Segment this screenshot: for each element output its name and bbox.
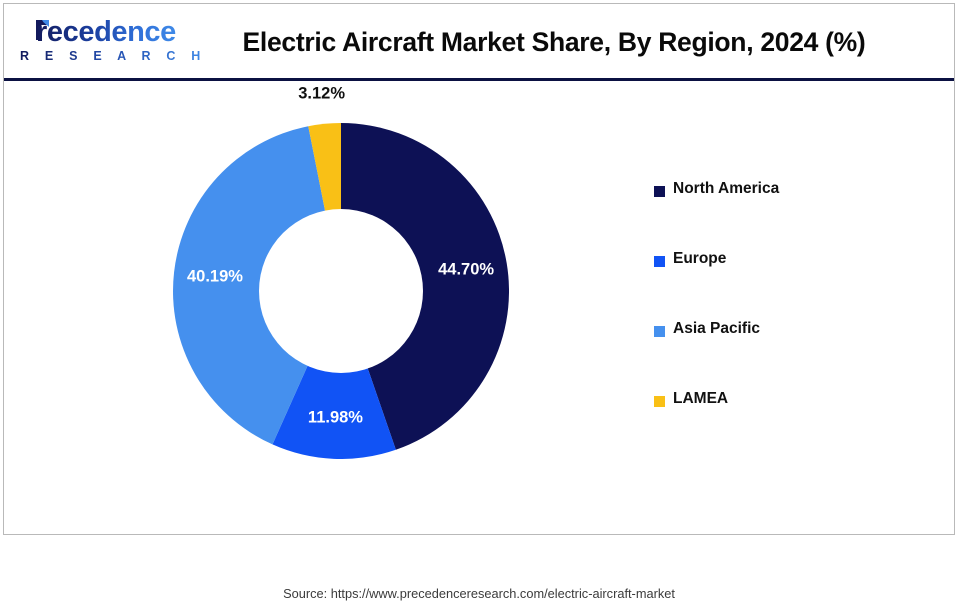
source-note: Source: https://www.precedenceresearch.c… <box>4 586 954 601</box>
donut-hole <box>259 209 423 373</box>
slice-label: 3.12% <box>298 84 345 103</box>
legend-label-europe: Europe <box>673 250 726 268</box>
logo-wordmark: recedence <box>36 16 176 49</box>
legend-item-lamea[interactable]: LAMEA <box>654 391 914 461</box>
legend-swatch-asia-pacific <box>654 326 665 337</box>
legend-label-north-america: North America <box>673 180 779 198</box>
legend-swatch-lamea <box>654 396 665 407</box>
legend-item-europe[interactable]: Europe <box>654 251 914 321</box>
legend-item-asia-pacific[interactable]: Asia Pacific <box>654 321 914 391</box>
donut-chart-svg <box>173 123 509 459</box>
legend-swatch-north-america <box>654 186 665 197</box>
chart-header: recedence R E S E A R C H Electric Aircr… <box>4 4 954 78</box>
chart-card: recedence R E S E A R C H Electric Aircr… <box>3 3 955 535</box>
chart-plot-area: 44.70%11.98%40.19%3.12% North America Eu… <box>4 81 954 534</box>
page-title: Electric Aircraft Market Share, By Regio… <box>184 27 924 58</box>
logo-subtitle: R E S E A R C H <box>20 49 207 63</box>
legend-label-asia-pacific: Asia Pacific <box>673 320 760 338</box>
legend-item-north-america[interactable]: North America <box>654 181 914 251</box>
chart-legend: North America Europe Asia Pacific LAMEA <box>654 181 914 461</box>
precedence-research-logo: recedence R E S E A R C H <box>18 16 174 68</box>
donut-chart: 44.70%11.98%40.19%3.12% <box>173 123 509 459</box>
legend-label-lamea: LAMEA <box>673 390 728 408</box>
legend-swatch-europe <box>654 256 665 267</box>
